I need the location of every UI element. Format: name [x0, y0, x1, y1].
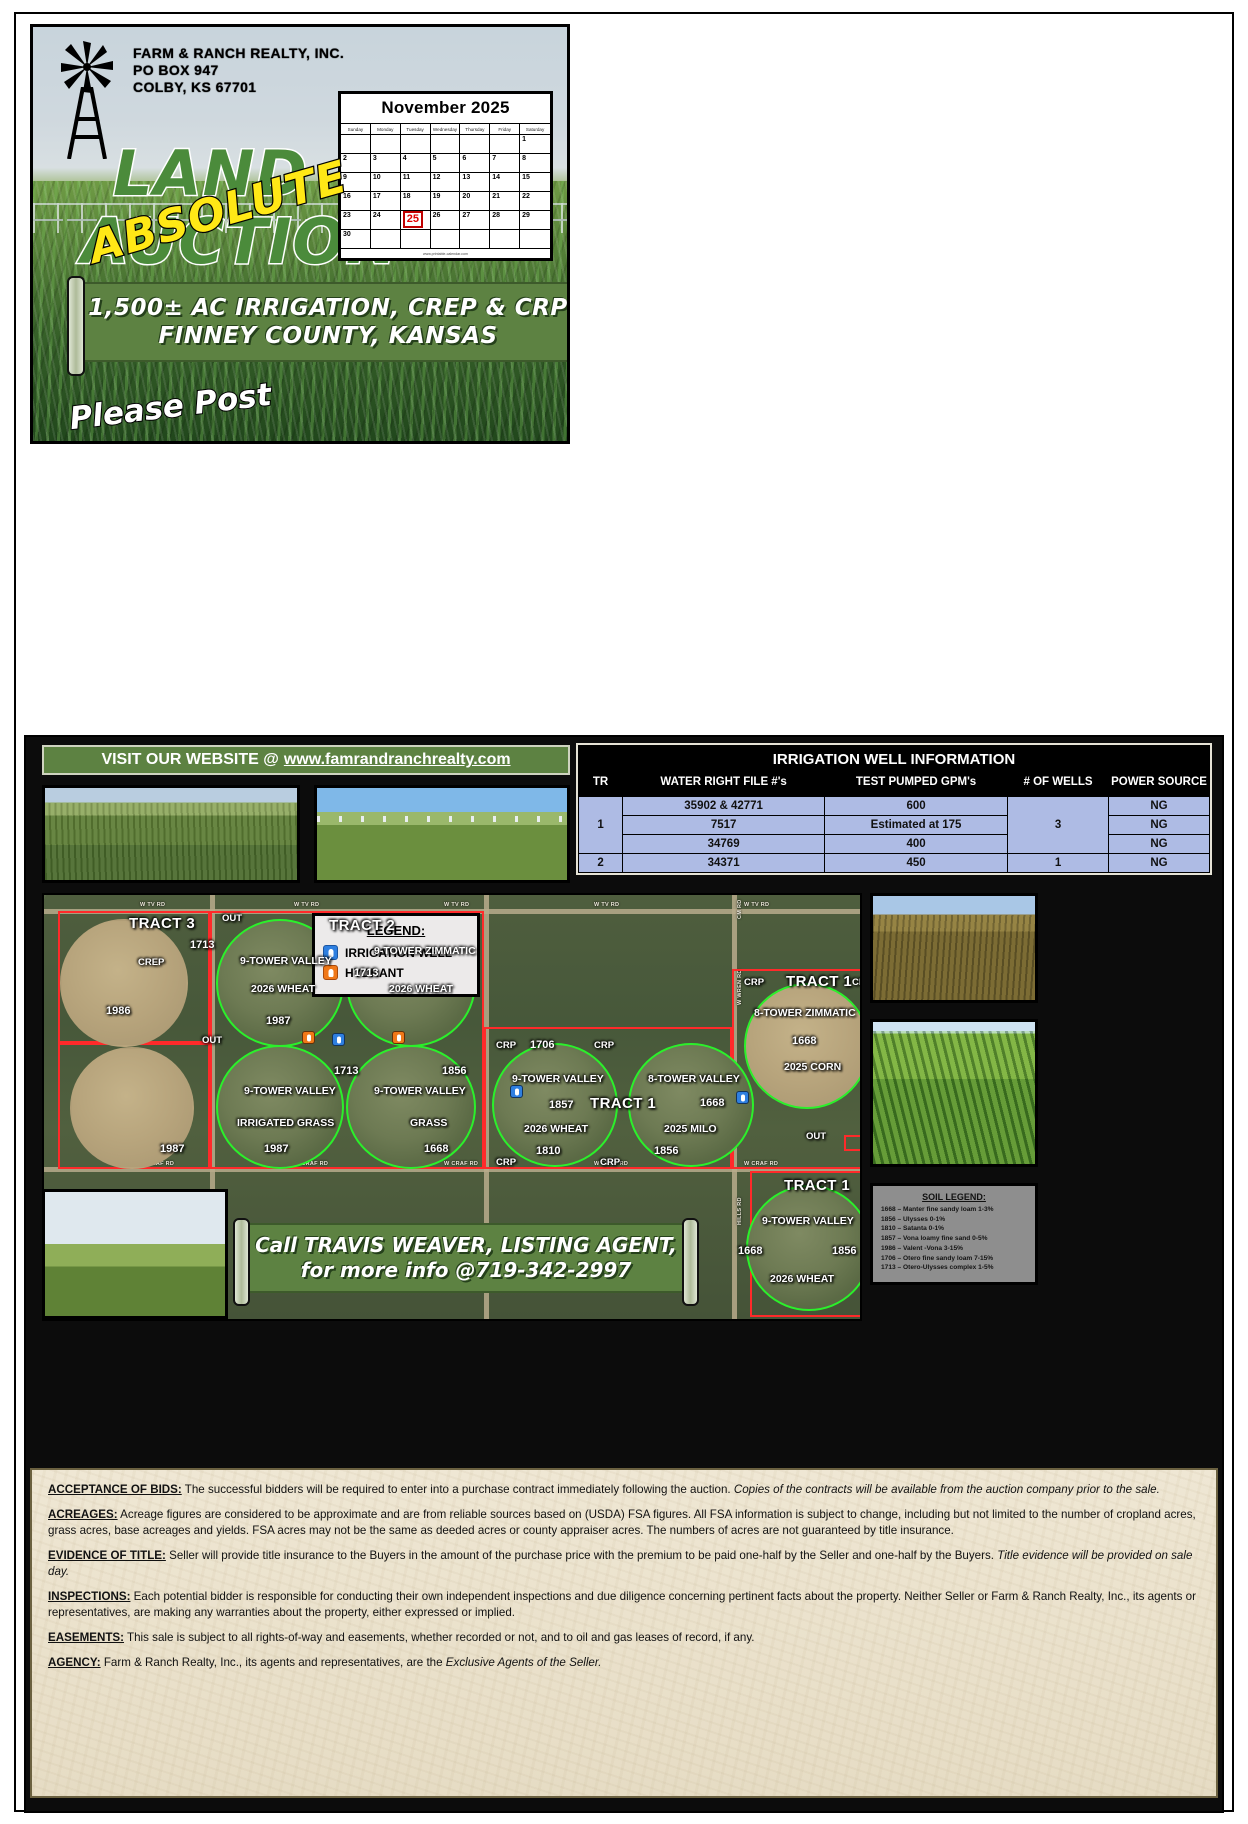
terms-emphasis: Title evidence will be provided on sale … — [48, 1549, 1192, 1578]
november-calendar: November 2025 SundayMondayTuesdayWednesd… — [338, 91, 553, 261]
soil-legend-item: 1668 – Manter fine sandy loam 1-3% — [881, 1206, 1027, 1215]
road-label-tv-1: W TV RD — [140, 902, 165, 908]
table-header-power-source: POWER SOURCE — [1109, 772, 1210, 797]
calendar-dow-thursday: Thursday — [460, 123, 490, 134]
contact-agent-banner[interactable]: Call TRAVIS WEAVER, LISTING AGENT, for m… — [238, 1223, 694, 1293]
t1-title-bottom: TRACT 1 — [784, 1177, 850, 1194]
terms-paragraph: INSPECTIONS: Each potential bidder is re… — [48, 1589, 1200, 1621]
table-row: 2343714501NG — [579, 854, 1210, 873]
calendar-day-number: 15 — [522, 174, 530, 181]
terms-heading: AGENCY: — [48, 1656, 101, 1669]
irrigation-table-title: IRRIGATION WELL INFORMATION — [578, 745, 1210, 772]
t1-crop-wheat-bottom: 2026 WHEAT — [770, 1273, 834, 1285]
soil-legend-item: 1986 – Valent -Vona 3-15% — [881, 1245, 1027, 1254]
terms-and-conditions: ACCEPTANCE OF BIDS: The successful bidde… — [30, 1468, 1218, 1798]
calendar-day-number: 10 — [373, 174, 381, 181]
t2-crop-wheat-a: 2026 WHEAT — [251, 983, 315, 995]
calendar-day-empty — [371, 134, 401, 153]
agent-phone-line-2: for more info @719-342-2997 — [301, 1258, 632, 1283]
soil-legend-item: 1857 – Vona loamy fine sand 0-5% — [881, 1235, 1027, 1244]
cell-number-of-wells: 3 — [1008, 797, 1109, 854]
terms-paragraph: EVIDENCE OF TITLE: Seller will provide t… — [48, 1548, 1200, 1580]
calendar-day-6[interactable]: 6 — [460, 153, 490, 172]
calendar-day-number: 29 — [522, 212, 530, 219]
terms-emphasis: Exclusive Agents of the Seller. — [446, 1656, 602, 1669]
calendar-grid: SundayMondayTuesdayWednesdayThursdayFrid… — [341, 123, 550, 248]
calendar-day-14[interactable]: 14 — [490, 172, 520, 191]
table-row: 135902 & 427716003NG — [579, 797, 1210, 816]
calendar-day-3[interactable]: 3 — [371, 153, 401, 172]
hydrant-pin-icon — [323, 965, 338, 980]
calendar-day-21[interactable]: 21 — [490, 191, 520, 210]
calendar-footer: www.printable-calendar.com — [341, 248, 550, 258]
cell-test-pumped-gpm: 400 — [825, 835, 1008, 854]
calendar-day-empty — [371, 229, 401, 248]
t1-sys-zimmatic-8: 8-TOWER ZIMMATIC — [754, 1007, 856, 1019]
calendar-day-number: 23 — [343, 212, 351, 219]
t1-soil-1668-a: 1668 — [700, 1097, 724, 1109]
terms-paragraph: ACREAGES: Acreage figures are considered… — [48, 1507, 1200, 1539]
calendar-day-23[interactable]: 23 — [341, 210, 371, 229]
tract-3-title: TRACT 3 — [129, 915, 195, 932]
cell-power-source: NG — [1109, 816, 1210, 835]
t2-sys-valley-2: 9-TOWER VALLEY — [244, 1085, 336, 1097]
pivot-tract-2-se — [346, 1045, 476, 1169]
irrigation-well-table: TRWATER RIGHT FILE #'sTEST PUMPED GPM's#… — [578, 772, 1210, 873]
table-row: 7517Estimated at 175NG — [579, 816, 1210, 835]
cell-water-right-file: 34769 — [623, 835, 825, 854]
calendar-day-number: 12 — [433, 174, 441, 181]
calendar-day-22[interactable]: 22 — [520, 191, 550, 210]
t2-irrigated-grass: IRRIGATED GRASS — [237, 1117, 334, 1129]
cell-water-right-file: 34371 — [623, 854, 825, 873]
irrigation-well-pin-3[interactable] — [736, 1091, 749, 1104]
t1-out-right: OUT — [806, 1131, 826, 1142]
calendar-day-number: 8 — [522, 155, 526, 162]
soil-legend-title: SOIL LEGEND: — [881, 1192, 1027, 1202]
calendar-day-empty — [341, 134, 371, 153]
calendar-dow-monday: Monday — [371, 123, 401, 134]
t1-crop-corn: 2025 CORN — [784, 1061, 841, 1073]
calendar-day-26[interactable]: 26 — [431, 210, 461, 229]
t2-sys-zimmatic: 9-TOWER ZIMMATIC — [374, 945, 476, 957]
road-label-tv-4: W TV RD — [594, 902, 619, 908]
calendar-day-28[interactable]: 28 — [490, 210, 520, 229]
windmill-tower-icon — [63, 87, 111, 159]
t2-grass: GRASS — [410, 1117, 447, 1129]
t1-soil-1668-b: 1668 — [792, 1035, 816, 1047]
calendar-day-number: 30 — [343, 231, 351, 238]
headline-line-1: 1,500± AC IRRIGATION, CREP & CRP — [88, 294, 568, 322]
t1-crp-c: CRP — [496, 1157, 516, 1168]
calendar-day-5[interactable]: 5 — [431, 153, 461, 172]
road-label-cm: CM RD — [737, 899, 743, 919]
tract-3-soil-1986: 1986 — [106, 1005, 130, 1017]
calendar-day-10[interactable]: 10 — [371, 172, 401, 191]
headline-line-2: FINNEY COUNTY, KANSAS — [158, 322, 497, 350]
table-header-of-wells: # OF WELLS — [1008, 772, 1109, 797]
calendar-dow-wednesday: Wednesday — [431, 123, 461, 134]
t2-soil-1856: 1856 — [442, 1065, 466, 1077]
pivot-tract-3-crep — [60, 919, 188, 1047]
calendar-day-empty — [490, 229, 520, 248]
t2-soil-1668: 1668 — [424, 1143, 448, 1155]
t1-crop-wheat: 2026 WHEAT — [524, 1123, 588, 1135]
t1-title-right: TRACT 1 — [786, 973, 852, 990]
calendar-dow-tuesday: Tuesday — [401, 123, 431, 134]
terms-paragraph: EASEMENTS: This sale is subject to all r… — [48, 1630, 1200, 1646]
agent-call-line-1: Call TRAVIS WEAVER, LISTING AGENT, — [255, 1233, 677, 1258]
calendar-day-19[interactable]: 19 — [431, 191, 461, 210]
calendar-day-18[interactable]: 18 — [401, 191, 431, 210]
t1-soil-1706: 1706 — [530, 1039, 554, 1051]
calendar-dow-friday: Friday — [490, 123, 520, 134]
tract-3-out-left: OUT — [202, 1035, 222, 1046]
t2-sys-valley-3: 9-TOWER VALLEY — [374, 1085, 466, 1097]
cell-water-right-file: 7517 — [623, 816, 825, 835]
terms-heading: EVIDENCE OF TITLE: — [48, 1549, 166, 1562]
terms-heading: ACCEPTANCE OF BIDS: — [48, 1483, 182, 1496]
website-bar[interactable]: VISIT OUR WEBSITE @ www.famrandranchreal… — [42, 745, 570, 775]
photo-corn-field — [870, 1019, 1038, 1167]
calendar-day-number: 18 — [403, 193, 411, 200]
road-label-tv-5: W TV RD — [744, 902, 769, 908]
calendar-day-empty — [460, 134, 490, 153]
soil-legend: SOIL LEGEND: 1668 – Manter fine sandy lo… — [870, 1183, 1038, 1285]
terms-paragraph: AGENCY: Farm & Ranch Realty, Inc., its a… — [48, 1655, 1200, 1671]
tract-1-small-outparcel[interactable] — [844, 1135, 862, 1151]
calendar-dow-saturday: Saturday — [520, 123, 550, 134]
calendar-day-number: 17 — [373, 193, 381, 200]
calendar-day-4[interactable]: 4 — [401, 153, 431, 172]
calendar-day-empty — [431, 134, 461, 153]
t1-crp-b: CRP — [594, 1040, 614, 1051]
table-header-row: TRWATER RIGHT FILE #'sTEST PUMPED GPM's#… — [579, 772, 1210, 797]
t1-crp-a: CRP — [496, 1040, 516, 1051]
calendar-day-11[interactable]: 11 — [401, 172, 431, 191]
calendar-day-number: 5 — [433, 155, 437, 162]
windmill-logo-icon — [53, 39, 121, 159]
t2-sys-valley: 9-TOWER VALLEY — [240, 955, 332, 967]
t1-sys-valley-bottom: 9-TOWER VALLEY — [762, 1215, 854, 1227]
hydrant-pin-1[interactable] — [302, 1031, 315, 1044]
t1-sys-valley-8: 8-TOWER VALLEY — [648, 1073, 740, 1085]
calendar-day-number: 26 — [433, 212, 441, 219]
t1-crp-e: CRP — [744, 977, 764, 988]
calendar-day-25[interactable]: 25 — [401, 210, 431, 229]
irrigation-well-pin-1[interactable] — [332, 1033, 345, 1046]
calendar-day-number: 28 — [492, 212, 500, 219]
photo-wheat-field — [42, 785, 300, 883]
calendar-day-number: 3 — [373, 155, 377, 162]
t2-soil-1713-b: 1713 — [334, 1065, 358, 1077]
soil-legend-item: 1856 – Ulysses 0-1% — [881, 1216, 1027, 1225]
website-url-link[interactable]: www.famrandranchrealty.com — [284, 751, 511, 769]
cell-tract: 1 — [579, 797, 623, 854]
calendar-day-1[interactable]: 1 — [520, 134, 550, 153]
calendar-day-number: 11 — [403, 174, 410, 181]
cell-power-source: NG — [1109, 835, 1210, 854]
calendar-day-number: 21 — [492, 193, 500, 200]
road-label-tv-2: W TV RD — [294, 902, 319, 908]
cell-tract: 2 — [579, 854, 623, 873]
hydrant-pin-2[interactable] — [392, 1031, 405, 1044]
calendar-day-number: 14 — [492, 174, 500, 181]
soil-legend-item: 1706 – Otero fine sandy loam 7-15% — [881, 1255, 1027, 1264]
photo-milo-field — [870, 893, 1038, 1003]
t1-soil-1668-c: 1668 — [738, 1245, 762, 1257]
cell-test-pumped-gpm: 600 — [825, 797, 1008, 816]
terms-heading: ACREAGES: — [48, 1508, 118, 1521]
t2-crop-wheat-b: 2026 WHEAT — [389, 983, 453, 995]
cell-power-source: NG — [1109, 854, 1210, 873]
t1-crp-d: CRP — [600, 1157, 620, 1168]
cell-power-source: NG — [1109, 797, 1210, 816]
tract-2-title: TRACT 2 — [329, 917, 395, 934]
calendar-day-number: 13 — [462, 174, 470, 181]
calendar-day-number: 4 — [403, 155, 407, 162]
website-label: VISIT OUR WEBSITE @ — [101, 751, 278, 769]
tract-3-crep: CREP — [138, 957, 164, 968]
calendar-day-30[interactable]: 30 — [341, 229, 371, 248]
tract-3-soil-1987: 1987 — [160, 1143, 184, 1155]
out-top: OUT — [222, 913, 242, 924]
photo-irrigation-well-head — [42, 1189, 228, 1319]
terms-heading: INSPECTIONS: — [48, 1590, 130, 1603]
cell-test-pumped-gpm: 450 — [825, 854, 1008, 873]
irrigation-well-table-panel: IRRIGATION WELL INFORMATION TRWATER RIGH… — [576, 743, 1212, 875]
legend-item-hydrant: HYDRANT — [323, 965, 469, 980]
calendar-day-number: 7 — [492, 155, 496, 162]
soil-legend-list: 1668 – Manter fine sandy loam 1-3%1856 –… — [881, 1206, 1027, 1273]
table-header-tr: TR — [579, 772, 623, 797]
t1-sys-valley-9: 9-TOWER VALLEY — [512, 1073, 604, 1085]
hero-postcard: FARM & RANCH REALTY, INC. PO BOX 947 COL… — [30, 24, 570, 444]
t1-soil-1856-b: 1856 — [832, 1245, 856, 1257]
calendar-title: November 2025 — [341, 94, 550, 123]
calendar-day-number: 22 — [522, 193, 530, 200]
tract-3-soil-1713: 1713 — [190, 939, 214, 951]
cell-number-of-wells: 1 — [1008, 854, 1109, 873]
calendar-dow-sunday: Sunday — [341, 123, 371, 134]
calendar-day-number: 6 — [462, 155, 466, 162]
calendar-day-empty — [401, 134, 431, 153]
calendar-day-24[interactable]: 24 — [371, 210, 401, 229]
cell-water-right-file: 35902 & 42771 — [623, 797, 825, 816]
calendar-day-empty — [460, 229, 490, 248]
calendar-day-7[interactable]: 7 — [490, 153, 520, 172]
calendar-day-2[interactable]: 2 — [341, 153, 371, 172]
irrigation-well-pin-2[interactable] — [510, 1085, 523, 1098]
terms-paragraph: ACCEPTANCE OF BIDS: The successful bidde… — [48, 1482, 1200, 1498]
t2-soil-1713-a: 1713 — [354, 967, 378, 979]
t1-soil-1810: 1810 — [536, 1145, 560, 1157]
soil-legend-item: 1713 – Otero-Ulysses complex 1-5% — [881, 1264, 1027, 1273]
table-header-water-right-file-s: WATER RIGHT FILE #'s — [623, 772, 825, 797]
calendar-day-27[interactable]: 27 — [460, 210, 490, 229]
calendar-day-empty — [401, 229, 431, 248]
calendar-day-8[interactable]: 8 — [520, 153, 550, 172]
table-row: 34769400NG — [579, 835, 1210, 854]
calendar-day-17[interactable]: 17 — [371, 191, 401, 210]
calendar-day-empty — [431, 229, 461, 248]
calendar-day-13[interactable]: 13 — [460, 172, 490, 191]
terms-heading: EASEMENTS: — [48, 1631, 124, 1644]
t1-crop-milo: 2025 MILO — [664, 1123, 717, 1135]
photo-center-pivot — [314, 785, 570, 883]
calendar-day-number: 24 — [373, 212, 381, 219]
calendar-day-number: 20 — [462, 193, 470, 200]
t1-soil-1856-a: 1856 — [654, 1145, 678, 1157]
calendar-day-empty — [490, 134, 520, 153]
road-label-hills: HILLS RD — [737, 1197, 743, 1225]
cell-test-pumped-gpm: Estimated at 175 — [825, 816, 1008, 835]
calendar-day-20[interactable]: 20 — [460, 191, 490, 210]
calendar-day-29[interactable]: 29 — [520, 210, 550, 229]
table-header-test-pumped-gpm-s: TEST PUMPED GPM's — [825, 772, 1008, 797]
calendar-day-number: 2 — [343, 155, 347, 162]
calendar-day-number: 1 — [522, 136, 526, 143]
t1-crp-f: CRP — [852, 977, 862, 988]
property-headline-banner: 1,500± AC IRRIGATION, CREP & CRP FINNEY … — [73, 282, 570, 362]
calendar-day-number: 27 — [462, 212, 470, 219]
t2-soil-1987-b: 1987 — [264, 1143, 288, 1155]
t1-soil-1857: 1857 — [549, 1099, 573, 1111]
road-label-tv-3: W TV RD — [444, 902, 469, 908]
company-address: FARM & RANCH REALTY, INC. PO BOX 947 COL… — [133, 45, 344, 96]
calendar-day-number: 19 — [433, 193, 441, 200]
soil-legend-item: 1810 – Satanta 0-1% — [881, 1225, 1027, 1234]
terms-emphasis: Copies of the contracts will be availabl… — [734, 1483, 1160, 1496]
auction-date-highlight: 25 — [403, 211, 423, 228]
calendar-day-15[interactable]: 15 — [520, 172, 550, 191]
t2-soil-1987-a: 1987 — [266, 1015, 290, 1027]
t1-title-mid: TRACT 1 — [590, 1095, 656, 1112]
table-body: 135902 & 427716003NG7517Estimated at 175… — [579, 797, 1210, 873]
calendar-day-empty — [520, 229, 550, 248]
calendar-day-12[interactable]: 12 — [431, 172, 461, 191]
